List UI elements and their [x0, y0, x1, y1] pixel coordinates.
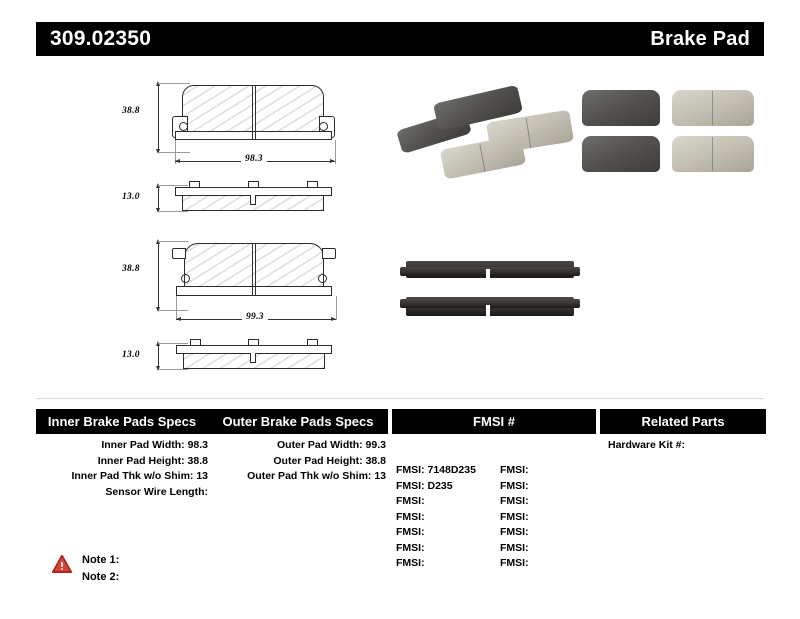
outer-pad-thickness-dim: 13.0: [122, 350, 140, 360]
technical-drawings-panel: 38.8 98.3 13.0: [36, 68, 366, 388]
specifications-table: Inner Brake Pads Specs Outer Brake Pads …: [36, 409, 766, 546]
drawing-outer-pad-face: 38.8 99.3: [36, 226, 366, 341]
fmsi-item: FMSI:: [396, 541, 476, 557]
inner-pad-height-dim: 38.8: [122, 106, 140, 116]
spec-item: Inner Pad Width: 98.3: [36, 438, 208, 454]
photo-pads-angled: [390, 80, 575, 185]
fmsi-item: FMSI:: [500, 494, 529, 510]
note-line: Note 1:: [82, 552, 119, 569]
table-top-rule: [36, 398, 764, 399]
page-header-bar: 309.02350 Brake Pad: [36, 22, 764, 56]
part-number: 309.02350: [50, 27, 151, 51]
outer-pad-height-dim: 38.8: [122, 264, 140, 274]
spec-item: Inner Pad Height: 38.8: [36, 454, 208, 470]
warning-triangle-icon: [52, 555, 72, 578]
fmsi-item: FMSI:: [500, 463, 529, 479]
column-header-related-parts: Related Parts: [600, 409, 766, 434]
fmsi-item: FMSI:: [396, 510, 476, 526]
inner-pad-width-dim: 98.3: [241, 154, 267, 164]
fmsi-item: FMSI:: [396, 556, 476, 572]
photo-shims-pair: [398, 255, 588, 333]
inner-pad-thickness-dim: 13.0: [122, 192, 140, 202]
outer-pad-width-dim: 99.3: [242, 312, 268, 322]
note-line: Note 2:: [82, 569, 119, 586]
column-header-inner-specs: Inner Brake Pads Specs: [36, 409, 208, 434]
page-title: Brake Pad: [650, 28, 750, 51]
inner-specs-column: Inner Pad Width: 98.3 Inner Pad Height: …: [36, 438, 208, 500]
fmsi-item: FMSI:: [500, 525, 529, 541]
drawing-inner-pad-edge: 13.0: [36, 176, 366, 224]
fmsi-subcolumn-left: FMSI: 7148D235 FMSI: D235 FMSI: FMSI: FM…: [396, 463, 476, 572]
column-header-outer-specs: Outer Brake Pads Specs: [208, 409, 388, 434]
fmsi-item: FMSI:: [500, 541, 529, 557]
fmsi-item: FMSI:: [396, 525, 476, 541]
fmsi-item: FMSI:: [500, 556, 529, 572]
spec-item: Outer Pad Width: 99.3: [208, 438, 386, 454]
notes-section: Note 1: Note 2:: [52, 552, 119, 586]
drawing-outer-pad-edge: 13.0: [36, 334, 366, 382]
fmsi-column: FMSI: 7148D235 FMSI: D235 FMSI: FMSI: FM…: [392, 463, 596, 575]
fmsi-item: FMSI:: [500, 510, 529, 526]
photo-pads-flat-grid: [576, 82, 766, 184]
spec-item: Outer Pad Thk w/o Shim: 13: [208, 469, 386, 485]
fmsi-item: FMSI: 7148D235: [396, 463, 476, 479]
fmsi-item: FMSI: D235: [396, 479, 476, 495]
table-header-row: Inner Brake Pads Specs Outer Brake Pads …: [36, 409, 766, 434]
outer-specs-column: Outer Pad Width: 99.3 Outer Pad Height: …: [208, 438, 386, 485]
drawing-inner-pad-face: 38.8 98.3: [36, 68, 366, 183]
product-photos-panel: [380, 70, 780, 370]
related-parts-column: Hardware Kit #:: [600, 438, 766, 454]
column-header-fmsi: FMSI #: [392, 409, 596, 434]
spec-item: Outer Pad Height: 38.8: [208, 454, 386, 470]
related-parts-item: Hardware Kit #:: [600, 438, 766, 454]
spec-item: Sensor Wire Length:: [36, 485, 208, 501]
fmsi-item: FMSI:: [396, 494, 476, 510]
fmsi-subcolumn-right: FMSI: FMSI: FMSI: FMSI: FMSI: FMSI: FMSI…: [500, 463, 529, 572]
spec-item: Inner Pad Thk w/o Shim: 13: [36, 469, 208, 485]
fmsi-item: FMSI:: [500, 479, 529, 495]
notes-text-block: Note 1: Note 2:: [82, 552, 119, 586]
